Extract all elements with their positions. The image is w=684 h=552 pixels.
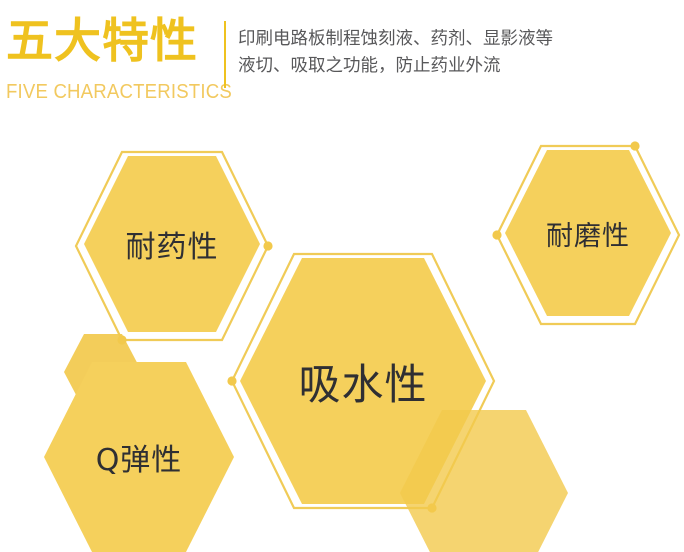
feature-hex-q-tan-xing[interactable]: Q弹性 [44,362,234,552]
hexagon-stage: 耐药性 吸水性 Q弹性 耐磨性 [0,128,684,552]
page-title-english: FIVE CHARACTERISTICS [6,81,232,104]
feature-hex-nai-mo-xing[interactable]: 耐磨性 [505,150,671,316]
feature-hex-nai-yao-xing[interactable]: 耐药性 [84,156,260,332]
feature-hex-shape [505,150,671,316]
hex-decorative-shape [400,410,568,552]
title-block: 五大特性 FIVE CHARACTERISTICS [6,18,221,118]
hex-vertex-dot [492,230,501,239]
feature-infographic-page: 五大特性 FIVE CHARACTERISTICS 印刷电路板制程蚀刻液、药剂、… [0,0,684,552]
page-title-chinese: 五大特性 [6,18,198,65]
hex-decorative-bottom [400,410,568,552]
title-divider [224,21,226,88]
header-description: 印刷电路板制程蚀刻液、药剂、显影液等 液切、吸取之功能，防止药业外流 [238,26,668,80]
header: 五大特性 FIVE CHARACTERISTICS 印刷电路板制程蚀刻液、药剂、… [0,0,684,128]
feature-hex-shape [44,362,234,552]
feature-hex-shape [84,156,260,332]
